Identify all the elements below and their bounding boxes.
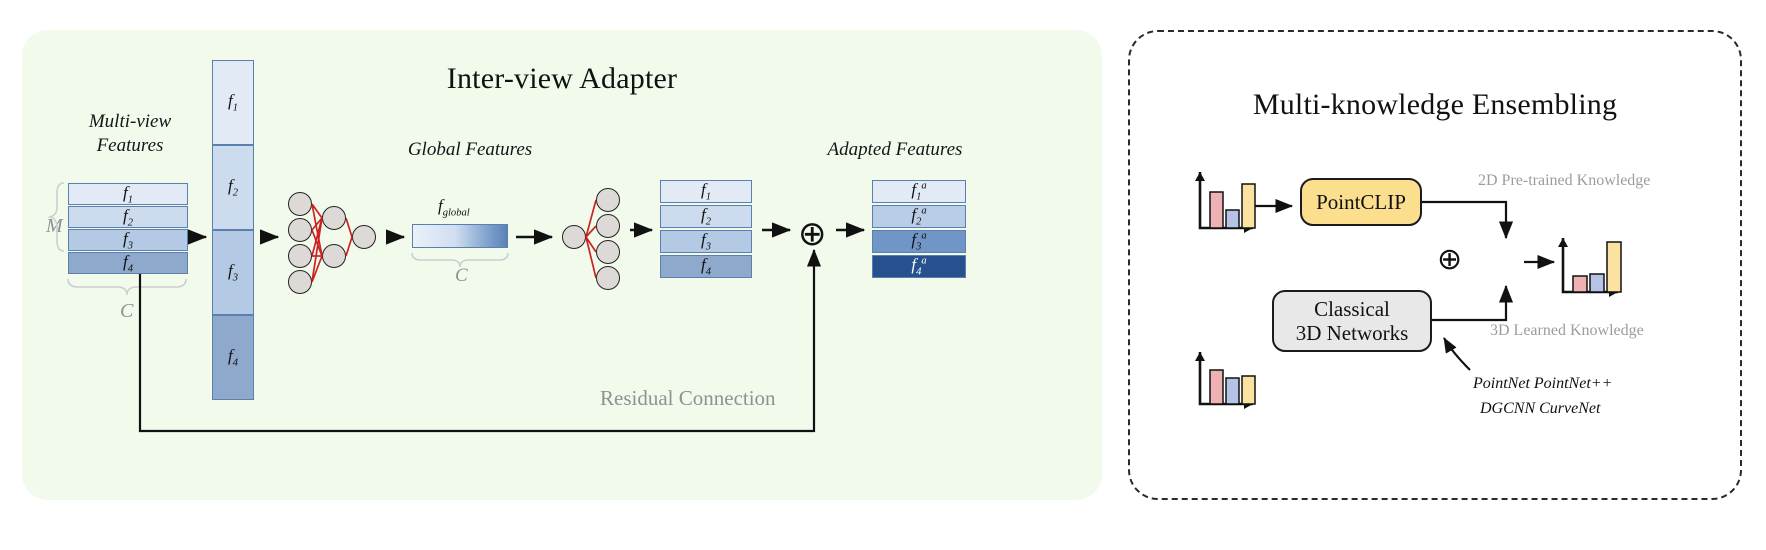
networks-list-line1: PointNet PointNet++ <box>1473 375 1612 393</box>
knowledge-2d-label: 2D Pre-trained Knowledge <box>1478 172 1650 190</box>
knowledge-3d-label: 3D Learned Knowledge <box>1490 322 1644 340</box>
column-feature-box-3: f3 <box>212 230 254 315</box>
classical-label-line1: Classical <box>1314 297 1390 321</box>
input-feature-box-2: f2 <box>68 206 188 228</box>
mlp-decoder-node-in <box>562 225 586 249</box>
pointclip-box[interactable]: PointCLIP <box>1300 178 1422 226</box>
input-feature-label-4: f4 <box>123 252 133 274</box>
adapted-feature-box-3: f3a <box>872 230 966 253</box>
input-feature-box-1: f1 <box>68 183 188 205</box>
mlp-decoder-node-1 <box>596 188 620 212</box>
global-feature-bar <box>412 224 508 248</box>
mid-feature-box-3: f3 <box>660 230 752 253</box>
column-feature-box-1: f1 <box>212 60 254 145</box>
column-feature-box-2: f2 <box>212 145 254 230</box>
mid-feature-label-4: f4 <box>701 255 711 277</box>
classical-label-line2: 3D Networks <box>1296 321 1409 345</box>
adapted-feature-box-1: f1a <box>872 180 966 203</box>
global-features-label: Global Features <box>370 138 570 162</box>
input-feature-box-4: f4 <box>68 252 188 274</box>
mid-feature-box-4: f4 <box>660 255 752 278</box>
f-global-label: fglobal <box>438 196 470 218</box>
residual-sum-operator: ⊕ <box>798 217 827 251</box>
brace-m-label: M <box>46 215 63 238</box>
mlp-encoder-node-4 <box>288 270 312 294</box>
mlp-encoder-node-3 <box>288 244 312 268</box>
page-title: Inter-view Adapter <box>22 62 1102 96</box>
adapted-features-label: Adapted Features <box>790 138 1000 162</box>
brace-c-global-label: C <box>455 265 468 287</box>
mid-feature-label-3: f3 <box>701 230 711 252</box>
classical-3d-networks-box[interactable]: Classical 3D Networks <box>1272 290 1432 352</box>
input-feature-label-3: f3 <box>123 229 133 251</box>
input-feature-box-3: f3 <box>68 229 188 251</box>
mlp-decoder-node-2 <box>596 214 620 238</box>
adapted-feature-label-2: f2a <box>911 205 926 227</box>
pointclip-label: PointCLIP <box>1316 190 1406 214</box>
column-feature-box-4: f4 <box>212 315 254 400</box>
mid-feature-label-2: f2 <box>701 205 711 227</box>
column-feature-label-4: f4 <box>228 346 238 368</box>
input-feature-label-1: f1 <box>123 183 133 205</box>
column-feature-label-1: f1 <box>228 91 238 113</box>
mlp-hidden-node-2 <box>322 244 346 268</box>
mid-feature-label-1: f1 <box>701 180 711 202</box>
input-feature-label-2: f2 <box>123 206 133 228</box>
column-feature-label-3: f3 <box>228 261 238 283</box>
mlp-decoder-node-4 <box>596 266 620 290</box>
adapted-feature-label-4: f4a <box>911 255 926 277</box>
adapted-feature-box-4: f4a <box>872 255 966 278</box>
networks-list-line2: DGCNN CurveNet <box>1480 400 1600 418</box>
mlp-hidden-node-1 <box>322 206 346 230</box>
adapted-feature-label-3: f3a <box>911 230 926 252</box>
mlp-decoder-node-3 <box>596 240 620 264</box>
right-panel-title: Multi-knowledge Ensembling <box>1128 88 1742 122</box>
ensemble-sum-operator: ⊕ <box>1437 245 1462 275</box>
column-feature-label-2: f2 <box>228 176 238 198</box>
mlp-encoder-node-1 <box>288 192 312 216</box>
residual-connection-label: Residual Connection <box>600 386 776 411</box>
adapted-feature-box-2: f2a <box>872 205 966 228</box>
mlp-encoder-node-2 <box>288 218 312 242</box>
brace-c-input-label: C <box>120 300 133 323</box>
multi-view-features-label: Multi-view Features <box>40 110 220 158</box>
mid-feature-box-1: f1 <box>660 180 752 203</box>
adapted-feature-label-1: f1a <box>911 180 926 202</box>
mlp-bottleneck-node <box>352 225 376 249</box>
mid-feature-box-2: f2 <box>660 205 752 228</box>
